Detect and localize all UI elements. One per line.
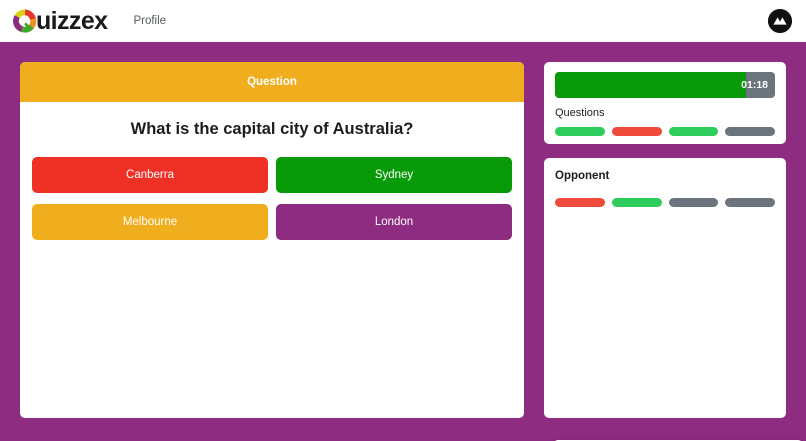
brand-wordmark: uizzex (36, 8, 107, 34)
opponent-pill-2 (612, 198, 662, 207)
nav-item-profile[interactable]: Profile (133, 0, 166, 42)
timer-bar-fill (555, 72, 746, 98)
quiz-card: Question What is the capital city of Aus… (20, 62, 524, 418)
opponent-progress-pills (555, 198, 775, 207)
question-text: What is the capital city of Australia? (20, 120, 524, 139)
answer-button-london[interactable]: London (276, 204, 512, 240)
avatar[interactable] (768, 9, 792, 33)
opponent-title: Opponent (555, 170, 775, 182)
opponent-panel: Opponent (544, 158, 786, 418)
top-navigation-bar: uizzex Profile (0, 0, 806, 42)
question-pill-3 (669, 127, 719, 136)
timer-value: 01:18 (741, 72, 768, 98)
question-progress-pills (555, 127, 775, 136)
question-pill-1 (555, 127, 605, 136)
opponent-pill-3 (669, 198, 719, 207)
question-header: Question (20, 62, 524, 102)
status-panel: 01:18 Questions (544, 62, 786, 144)
stage-background: Question What is the capital city of Aus… (0, 42, 806, 441)
brand-logo[interactable]: uizzex (12, 8, 107, 34)
answer-button-sydney[interactable]: Sydney (276, 157, 512, 193)
answer-options: Canberra Sydney Melbourne London (32, 157, 512, 240)
answer-button-melbourne[interactable]: Melbourne (32, 204, 268, 240)
user-avatar-icon (768, 9, 792, 33)
question-pill-2 (612, 127, 662, 136)
quizzex-q-swirl-icon (12, 8, 38, 34)
opponent-pill-4 (725, 198, 775, 207)
quiz-app: uizzex Profile Question What is the capi… (0, 0, 806, 441)
opponent-pill-1 (555, 198, 605, 207)
questions-label: Questions (555, 107, 775, 119)
answer-button-canberra[interactable]: Canberra (32, 157, 268, 193)
question-pill-4 (725, 127, 775, 136)
timer-bar: 01:18 (555, 72, 775, 98)
